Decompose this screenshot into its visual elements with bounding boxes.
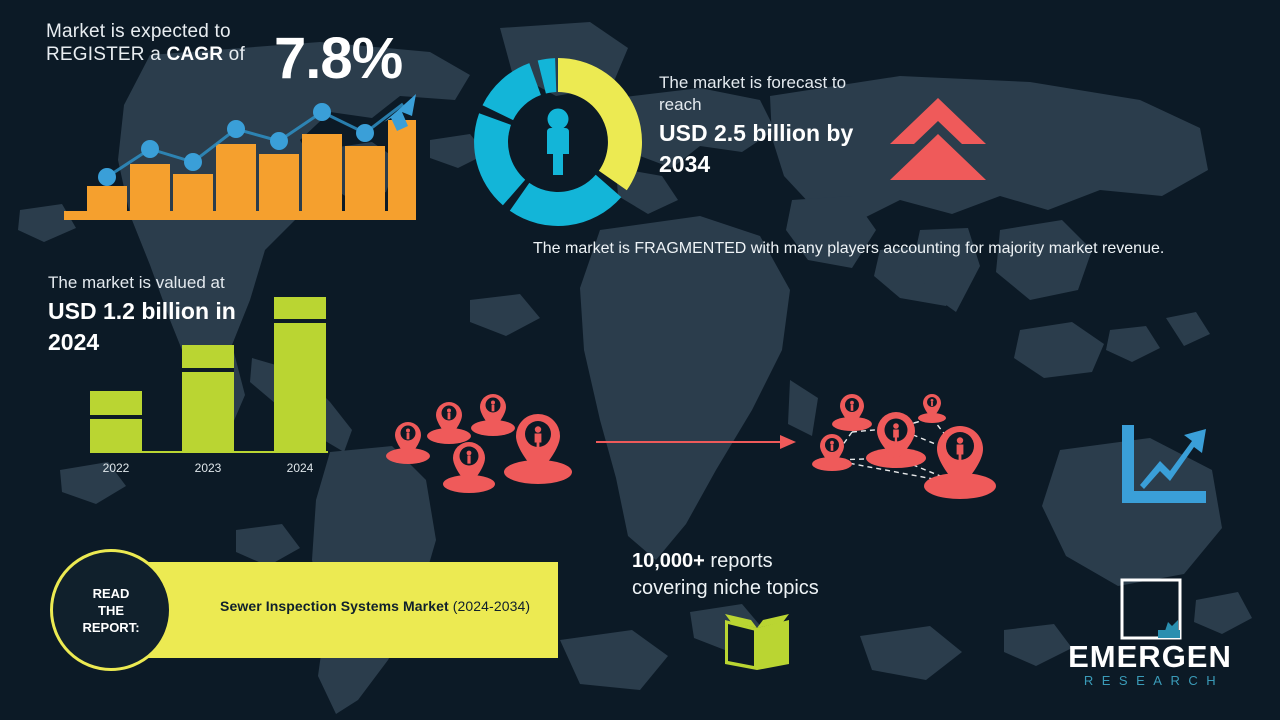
reports-text-block: 10,000+ reports covering niche topics (632, 548, 892, 602)
read-report-banner[interactable]: Sewer Inspection Systems Market (2024-20… (108, 562, 558, 658)
emergen-research-logo: EMERGEN RESEARCH (1058, 578, 1242, 690)
square-chart-logo-icon (1120, 578, 1182, 640)
cagr-keyword: CAGR (166, 44, 223, 65)
forecast-lead-line-2: reach (659, 94, 899, 116)
x-label-2022: 2022 (86, 461, 146, 475)
logo-subtext: RESEARCH (1058, 674, 1242, 688)
reports-count: 10,000+ (632, 550, 705, 572)
cagr-lead-line-1: Market is expected to (46, 20, 466, 43)
x-label-2024: 2024 (270, 461, 330, 475)
badge-line-3: REPORT: (82, 620, 139, 635)
badge-line-2: THE (98, 603, 124, 618)
forecast-text-block: The market is forecast to reach USD 2.5 … (659, 72, 899, 178)
forecast-stat-line-1: USD 2.5 billion by (659, 119, 899, 147)
bar-2023-divider (182, 368, 234, 372)
double-chevron-up-icon (886, 96, 990, 182)
growth-chart-icon (64, 82, 416, 224)
cagr-lead-pre: REGISTER a (46, 44, 166, 65)
forecast-stat-line-2: 2034 (659, 150, 899, 178)
badge-line-1: READ (93, 586, 130, 601)
cagr-text-block: Market is expected to REGISTER a CAGR of… (46, 20, 466, 66)
valued-lead: The market is valued at (48, 272, 318, 294)
green-value-bar-chart: 2022 2023 2024 (78, 295, 338, 475)
reports-count-suffix: reports (705, 550, 773, 572)
report-title-bold: Sewer Inspection Systems Market (220, 598, 453, 614)
cagr-lead-post: of (223, 44, 245, 65)
map-pin-network-icon (808, 388, 1008, 500)
chart-growth-axis-icon (1122, 425, 1206, 503)
bar-2022-divider (90, 415, 142, 419)
report-title-years: (2024-2034) (453, 598, 530, 614)
cagr-lead-line-2: REGISTER a CAGR of (46, 43, 466, 66)
cagr-value: 7.8% (274, 30, 402, 88)
fragmentation-text: The market is FRAGMENTED with many playe… (533, 237, 1223, 261)
reports-subtitle: covering niche topics (632, 575, 892, 602)
bar-2022 (90, 391, 142, 453)
report-title: Sewer Inspection Systems Market (2024-20… (220, 598, 550, 614)
bar-2024 (274, 297, 326, 453)
logo-wordmark: EMERGEN (1058, 640, 1242, 674)
forecast-lead-line-1: The market is forecast to (659, 72, 899, 94)
bar-2024-divider (274, 319, 326, 323)
open-book-icon (719, 608, 795, 670)
reports-count-line: 10,000+ reports (632, 548, 892, 575)
donut-person-chart-icon (468, 52, 648, 232)
right-arrow-icon (596, 432, 796, 452)
infographic-canvas: Market is expected to REGISTER a CAGR of… (0, 0, 1280, 720)
read-report-badge-label: READ THE REPORT: (82, 585, 139, 636)
map-pin-cluster-icon (385, 388, 575, 493)
bar-2023 (182, 345, 234, 453)
read-the-report-badge[interactable]: READ THE REPORT: (50, 549, 172, 671)
x-label-2023: 2023 (178, 461, 238, 475)
chart-baseline (90, 451, 328, 453)
